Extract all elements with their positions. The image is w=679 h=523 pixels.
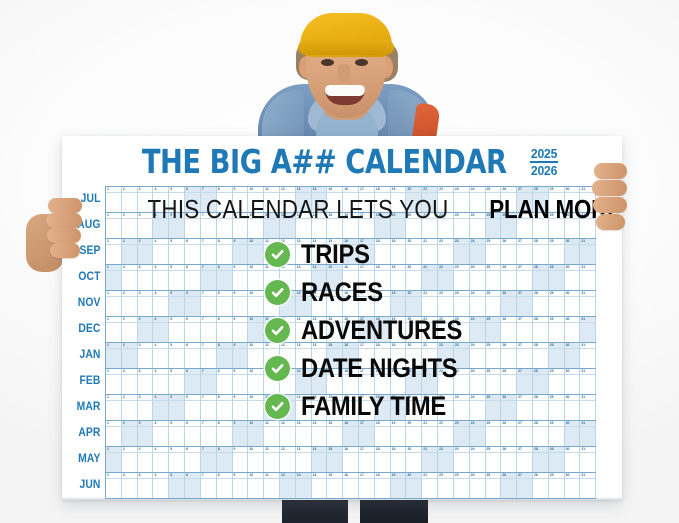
calendar-day-cell[interactable]: 2 — [122, 421, 138, 446]
calendar-day-cell[interactable]: 29 — [549, 473, 565, 498]
calendar-day-cell[interactable]: 1 — [106, 369, 122, 394]
calendar-day-cell[interactable]: 29 — [549, 239, 565, 264]
calendar-day-cell[interactable]: 8 — [217, 213, 233, 238]
calendar-day-cell[interactable]: 18 — [375, 239, 391, 264]
calendar-day-cell[interactable]: 14 — [312, 213, 328, 238]
calendar-day-cell[interactable]: 11 — [264, 473, 280, 498]
calendar-day-cell[interactable]: 19 — [391, 421, 407, 446]
calendar-day-cell[interactable]: 10 — [248, 447, 264, 472]
calendar-day-cell[interactable]: 22 — [438, 343, 454, 368]
calendar-day-cell[interactable]: 29 — [549, 343, 565, 368]
calendar-day-cell[interactable]: 31 — [580, 369, 596, 394]
calendar-day-cell[interactable]: 21 — [422, 395, 438, 420]
calendar-day-cell[interactable]: 6 — [185, 473, 201, 498]
calendar-day-cell[interactable]: 20 — [406, 395, 422, 420]
calendar-day-cell[interactable]: 12 — [280, 343, 296, 368]
calendar-day-cell[interactable]: 7 — [201, 343, 217, 368]
calendar-day-cell[interactable]: 29 — [549, 395, 565, 420]
calendar-day-cell[interactable]: 2 — [122, 395, 138, 420]
calendar-day-cell[interactable]: 8 — [217, 187, 233, 212]
calendar-day-cell[interactable]: 15 — [327, 239, 343, 264]
calendar-day-cell[interactable]: 10 — [248, 343, 264, 368]
calendar-day-cell[interactable]: 13 — [296, 265, 312, 290]
calendar-day-cell[interactable]: 19 — [391, 343, 407, 368]
calendar-day-cell[interactable]: 11 — [264, 421, 280, 446]
calendar-day-cell[interactable]: 7 — [201, 317, 217, 342]
calendar-day-cell[interactable]: 24 — [470, 317, 486, 342]
calendar-day-cell[interactable]: 7 — [201, 265, 217, 290]
calendar-day-cell[interactable]: 28 — [533, 265, 549, 290]
calendar-day-cell[interactable]: 27 — [517, 447, 533, 472]
calendar-day-cell[interactable]: 14 — [312, 473, 328, 498]
calendar-day-cell[interactable]: 29 — [549, 213, 565, 238]
calendar-day-cell[interactable]: 31 — [580, 239, 596, 264]
calendar-day-cell[interactable]: 30 — [565, 187, 581, 212]
calendar-day-cell[interactable]: 29 — [549, 421, 565, 446]
calendar-day-cell[interactable]: 12 — [280, 395, 296, 420]
calendar-day-cell[interactable]: 21 — [422, 187, 438, 212]
calendar-day-cell[interactable]: 23 — [454, 213, 470, 238]
calendar-day-cell[interactable]: 27 — [517, 421, 533, 446]
calendar-day-cell[interactable]: 14 — [312, 395, 328, 420]
calendar-day-cell[interactable]: 26 — [501, 343, 517, 368]
calendar-day-cell[interactable]: 23 — [454, 265, 470, 290]
calendar-day-cell[interactable]: 14 — [312, 187, 328, 212]
calendar-day-cell[interactable]: 12 — [280, 239, 296, 264]
calendar-day-cell[interactable]: 6 — [185, 395, 201, 420]
calendar-day-cell[interactable]: 9 — [233, 343, 249, 368]
calendar-day-cell[interactable]: 20 — [406, 317, 422, 342]
calendar-day-cell[interactable]: 26 — [501, 421, 517, 446]
calendar-day-cell[interactable]: 11 — [264, 395, 280, 420]
calendar-day-cell[interactable]: 21 — [422, 317, 438, 342]
calendar-day-cell[interactable]: 23 — [454, 343, 470, 368]
calendar-day-cell[interactable]: 30 — [565, 343, 581, 368]
calendar-day-cell[interactable]: 25 — [486, 265, 502, 290]
calendar-day-cell[interactable]: 9 — [233, 395, 249, 420]
calendar-day-cell[interactable]: 27 — [517, 187, 533, 212]
calendar-day-cell[interactable]: 8 — [217, 369, 233, 394]
calendar-day-cell[interactable]: 13 — [296, 447, 312, 472]
calendar-poster[interactable]: THE BIG A## CALENDAR 2025 2026 JULAUGSEP… — [62, 136, 622, 500]
calendar-day-cell[interactable]: 18 — [375, 291, 391, 316]
calendar-day-cell[interactable]: 13 — [296, 473, 312, 498]
calendar-day-cell[interactable]: 11 — [264, 447, 280, 472]
calendar-day-cell[interactable]: 3 — [138, 265, 154, 290]
calendar-day-cell[interactable]: 1 — [106, 291, 122, 316]
calendar-day-cell[interactable]: 10 — [248, 395, 264, 420]
calendar-day-cell[interactable]: 31 — [580, 395, 596, 420]
calendar-day-cell[interactable]: 30 — [565, 447, 581, 472]
calendar-day-cell[interactable]: 11 — [264, 213, 280, 238]
calendar-day-cell[interactable]: 2 — [122, 447, 138, 472]
calendar-day-cell[interactable]: 14 — [312, 421, 328, 446]
calendar-day-cell[interactable]: 10 — [248, 239, 264, 264]
calendar-day-cell[interactable]: 14 — [312, 447, 328, 472]
calendar-day-cell[interactable]: 5 — [169, 239, 185, 264]
calendar-day-cell[interactable]: 2 — [122, 317, 138, 342]
calendar-day-cell[interactable]: 16 — [343, 291, 359, 316]
calendar-day-cell[interactable]: 31 — [580, 421, 596, 446]
calendar-day-cell[interactable]: 25 — [486, 421, 502, 446]
calendar-day-cell[interactable]: 13 — [296, 369, 312, 394]
calendar-day-cell[interactable]: 5 — [169, 395, 185, 420]
calendar-day-cell[interactable]: 30 — [565, 369, 581, 394]
calendar-day-cell[interactable]: 3 — [138, 421, 154, 446]
calendar-day-cell[interactable]: 27 — [517, 343, 533, 368]
calendar-day-cell[interactable]: 24 — [470, 343, 486, 368]
calendar-day-cell[interactable]: 15 — [327, 317, 343, 342]
calendar-day-cell[interactable]: 6 — [185, 343, 201, 368]
calendar-day-cell[interactable]: 2 — [122, 369, 138, 394]
calendar-day-cell[interactable]: 20 — [406, 447, 422, 472]
calendar-day-cell[interactable]: 23 — [454, 395, 470, 420]
calendar-day-cell[interactable]: 7 — [201, 291, 217, 316]
calendar-day-cell[interactable]: 8 — [217, 473, 233, 498]
calendar-day-cell[interactable]: 5 — [169, 447, 185, 472]
calendar-day-cell[interactable]: 26 — [501, 187, 517, 212]
calendar-day-cell[interactable]: 26 — [501, 265, 517, 290]
calendar-day-cell[interactable]: 1 — [106, 473, 122, 498]
calendar-day-cell[interactable]: 1 — [106, 239, 122, 264]
calendar-day-cell[interactable]: 2 — [122, 473, 138, 498]
calendar-day-cell[interactable]: 20 — [406, 187, 422, 212]
calendar-day-cell[interactable]: 25 — [486, 369, 502, 394]
calendar-day-cell[interactable]: 7 — [201, 447, 217, 472]
calendar-day-cell[interactable]: 2 — [122, 187, 138, 212]
calendar-day-cell[interactable]: 15 — [327, 265, 343, 290]
calendar-day-cell[interactable]: 22 — [438, 187, 454, 212]
calendar-day-cell[interactable]: 1 — [106, 447, 122, 472]
calendar-day-cell[interactable]: 29 — [549, 291, 565, 316]
calendar-day-cell[interactable]: 1 — [106, 265, 122, 290]
calendar-day-cell[interactable]: 9 — [233, 291, 249, 316]
calendar-day-cell[interactable]: 12 — [280, 447, 296, 472]
calendar-day-cell[interactable]: 28 — [533, 187, 549, 212]
calendar-day-cell[interactable]: 1 — [106, 187, 122, 212]
calendar-day-cell[interactable]: 7 — [201, 213, 217, 238]
calendar-day-cell[interactable]: 20 — [406, 265, 422, 290]
calendar-day-cell[interactable]: 2 — [122, 343, 138, 368]
calendar-day-cell[interactable]: 24 — [470, 447, 486, 472]
calendar-day-cell[interactable]: 2 — [122, 291, 138, 316]
calendar-day-cell[interactable]: 10 — [248, 265, 264, 290]
calendar-day-cell[interactable]: 16 — [343, 265, 359, 290]
calendar-day-cell[interactable]: 22 — [438, 395, 454, 420]
calendar-day-cell[interactable]: 24 — [470, 265, 486, 290]
calendar-day-cell[interactable]: 23 — [454, 317, 470, 342]
calendar-day-cell[interactable]: 12 — [280, 265, 296, 290]
calendar-day-cell[interactable]: 9 — [233, 317, 249, 342]
calendar-day-cell[interactable]: 4 — [153, 421, 169, 446]
calendar-day-cell[interactable]: 8 — [217, 291, 233, 316]
calendar-day-cell[interactable]: 28 — [533, 395, 549, 420]
calendar-day-cell[interactable]: 3 — [138, 343, 154, 368]
calendar-day-cell[interactable]: 18 — [375, 369, 391, 394]
calendar-day-cell[interactable]: 4 — [153, 369, 169, 394]
calendar-day-cell[interactable]: 9 — [233, 473, 249, 498]
calendar-day-cell[interactable]: 10 — [248, 213, 264, 238]
calendar-day-cell[interactable]: 20 — [406, 369, 422, 394]
calendar-day-cell[interactable]: 11 — [264, 291, 280, 316]
calendar-day-cell[interactable]: 7 — [201, 421, 217, 446]
calendar-day-cell[interactable]: 15 — [327, 187, 343, 212]
calendar-day-cell[interactable]: 29 — [549, 265, 565, 290]
calendar-day-cell[interactable]: 30 — [565, 239, 581, 264]
calendar-day-cell[interactable]: 19 — [391, 317, 407, 342]
calendar-day-cell[interactable]: 29 — [549, 447, 565, 472]
calendar-day-cell[interactable]: 14 — [312, 369, 328, 394]
calendar-day-cell[interactable]: 20 — [406, 239, 422, 264]
calendar-day-cell[interactable]: 13 — [296, 213, 312, 238]
calendar-day-cell[interactable]: 23 — [454, 447, 470, 472]
calendar-day-cell[interactable]: 18 — [375, 473, 391, 498]
calendar-day-cell[interactable]: 30 — [565, 265, 581, 290]
calendar-day-cell[interactable]: 10 — [248, 473, 264, 498]
calendar-grid[interactable]: 1234567891011121314151617181920212223242… — [105, 186, 596, 499]
calendar-day-cell[interactable]: 27 — [517, 395, 533, 420]
calendar-day-cell[interactable]: 17 — [359, 473, 375, 498]
calendar-day-cell[interactable]: 3 — [138, 187, 154, 212]
calendar-day-cell[interactable]: 25 — [486, 473, 502, 498]
calendar-day-cell[interactable]: 8 — [217, 395, 233, 420]
calendar-day-cell[interactable]: 27 — [517, 265, 533, 290]
calendar-day-cell[interactable]: 20 — [406, 291, 422, 316]
calendar-day-cell[interactable]: 26 — [501, 369, 517, 394]
calendar-day-cell[interactable]: 13 — [296, 187, 312, 212]
calendar-day-cell[interactable]: 18 — [375, 447, 391, 472]
calendar-day-cell[interactable]: 9 — [233, 447, 249, 472]
calendar-day-cell[interactable]: 20 — [406, 473, 422, 498]
calendar-day-cell[interactable]: 17 — [359, 447, 375, 472]
calendar-day-cell[interactable]: 31 — [580, 265, 596, 290]
calendar-day-cell[interactable]: 17 — [359, 187, 375, 212]
calendar-day-cell[interactable]: 3 — [138, 369, 154, 394]
calendar-day-cell[interactable]: 4 — [153, 343, 169, 368]
calendar-day-cell[interactable]: 9 — [233, 369, 249, 394]
calendar-day-cell[interactable]: 9 — [233, 265, 249, 290]
calendar-day-cell[interactable]: 15 — [327, 343, 343, 368]
calendar-day-cell[interactable]: 14 — [312, 317, 328, 342]
calendar-day-cell[interactable]: 23 — [454, 421, 470, 446]
calendar-day-cell[interactable]: 22 — [438, 291, 454, 316]
calendar-day-cell[interactable]: 5 — [169, 317, 185, 342]
calendar-day-cell[interactable]: 14 — [312, 291, 328, 316]
calendar-day-cell[interactable]: 31 — [580, 291, 596, 316]
calendar-day-cell[interactable]: 8 — [217, 447, 233, 472]
calendar-day-cell[interactable]: 21 — [422, 343, 438, 368]
calendar-day-cell[interactable]: 13 — [296, 395, 312, 420]
calendar-day-cell[interactable]: 9 — [233, 213, 249, 238]
calendar-day-cell[interactable]: 9 — [233, 421, 249, 446]
calendar-day-cell[interactable]: 7 — [201, 187, 217, 212]
calendar-day-cell[interactable]: 16 — [343, 213, 359, 238]
calendar-day-cell[interactable]: 24 — [470, 291, 486, 316]
calendar-day-cell[interactable]: 8 — [217, 265, 233, 290]
calendar-day-cell[interactable]: 6 — [185, 291, 201, 316]
calendar-day-cell[interactable]: 18 — [375, 343, 391, 368]
calendar-day-cell[interactable]: 18 — [375, 213, 391, 238]
calendar-day-cell[interactable]: 17 — [359, 421, 375, 446]
calendar-day-cell[interactable]: 11 — [264, 343, 280, 368]
calendar-day-cell[interactable]: 14 — [312, 343, 328, 368]
calendar-day-cell[interactable]: 25 — [486, 213, 502, 238]
calendar-day-cell[interactable]: 23 — [454, 369, 470, 394]
calendar-day-cell[interactable]: 16 — [343, 317, 359, 342]
calendar-day-cell[interactable]: 22 — [438, 239, 454, 264]
calendar-day-cell[interactable]: 19 — [391, 473, 407, 498]
calendar-day-cell[interactable]: 21 — [422, 213, 438, 238]
calendar-day-cell[interactable]: 5 — [169, 421, 185, 446]
calendar-day-cell[interactable]: 26 — [501, 291, 517, 316]
calendar-day-cell[interactable]: 24 — [470, 187, 486, 212]
calendar-day-cell[interactable]: 12 — [280, 213, 296, 238]
calendar-day-cell[interactable]: 6 — [185, 369, 201, 394]
calendar-day-cell[interactable]: 24 — [470, 213, 486, 238]
calendar-day-cell[interactable]: 16 — [343, 473, 359, 498]
calendar-day-cell[interactable]: 13 — [296, 239, 312, 264]
calendar-day-cell[interactable]: 30 — [565, 317, 581, 342]
calendar-day-cell[interactable]: 12 — [280, 421, 296, 446]
calendar-day-cell[interactable]: 26 — [501, 213, 517, 238]
calendar-day-cell[interactable]: 27 — [517, 369, 533, 394]
calendar-day-cell[interactable]: 17 — [359, 265, 375, 290]
calendar-day-cell[interactable]: 31 — [580, 343, 596, 368]
calendar-day-cell[interactable]: 31 — [580, 317, 596, 342]
calendar-day-cell[interactable]: 30 — [565, 213, 581, 238]
calendar-day-cell[interactable]: 21 — [422, 291, 438, 316]
calendar-day-cell[interactable]: 1 — [106, 421, 122, 446]
calendar-day-cell[interactable]: 25 — [486, 239, 502, 264]
calendar-day-cell[interactable]: 13 — [296, 343, 312, 368]
calendar-day-cell[interactable]: 7 — [201, 473, 217, 498]
calendar-day-cell[interactable]: 16 — [343, 343, 359, 368]
calendar-day-cell[interactable]: 15 — [327, 473, 343, 498]
calendar-day-cell[interactable]: 4 — [153, 395, 169, 420]
calendar-day-cell[interactable]: 23 — [454, 239, 470, 264]
calendar-day-cell[interactable]: 5 — [169, 187, 185, 212]
calendar-day-cell[interactable]: 30 — [565, 395, 581, 420]
calendar-day-cell[interactable]: 25 — [486, 447, 502, 472]
calendar-day-cell[interactable]: 5 — [169, 213, 185, 238]
calendar-day-cell[interactable]: 15 — [327, 421, 343, 446]
calendar-day-cell[interactable]: 25 — [486, 343, 502, 368]
calendar-day-cell[interactable]: 12 — [280, 473, 296, 498]
calendar-day-cell[interactable]: 18 — [375, 187, 391, 212]
calendar-day-cell[interactable]: 6 — [185, 265, 201, 290]
calendar-day-cell[interactable]: 22 — [438, 421, 454, 446]
calendar-day-cell[interactable]: 16 — [343, 421, 359, 446]
calendar-day-cell[interactable]: 12 — [280, 291, 296, 316]
calendar-day-cell[interactable]: 22 — [438, 265, 454, 290]
calendar-day-cell[interactable]: 1 — [106, 395, 122, 420]
calendar-day-cell[interactable]: 21 — [422, 265, 438, 290]
calendar-day-cell[interactable]: 2 — [122, 213, 138, 238]
calendar-day-cell[interactable]: 25 — [486, 317, 502, 342]
calendar-day-cell[interactable]: 30 — [565, 473, 581, 498]
calendar-day-cell[interactable]: 9 — [233, 187, 249, 212]
calendar-day-cell[interactable]: 20 — [406, 213, 422, 238]
calendar-day-cell[interactable]: 28 — [533, 291, 549, 316]
calendar-day-cell[interactable]: 22 — [438, 213, 454, 238]
calendar-day-cell[interactable]: 21 — [422, 239, 438, 264]
calendar-day-cell[interactable]: 27 — [517, 213, 533, 238]
calendar-day-cell[interactable]: 18 — [375, 265, 391, 290]
calendar-day-cell[interactable]: 3 — [138, 291, 154, 316]
calendar-day-cell[interactable]: 15 — [327, 395, 343, 420]
calendar-day-cell[interactable]: 28 — [533, 473, 549, 498]
calendar-day-cell[interactable]: 26 — [501, 473, 517, 498]
calendar-day-cell[interactable]: 17 — [359, 291, 375, 316]
calendar-day-cell[interactable]: 16 — [343, 447, 359, 472]
calendar-day-cell[interactable]: 11 — [264, 265, 280, 290]
calendar-day-cell[interactable]: 3 — [138, 239, 154, 264]
calendar-day-cell[interactable]: 15 — [327, 291, 343, 316]
calendar-day-cell[interactable]: 18 — [375, 395, 391, 420]
calendar-day-cell[interactable]: 25 — [486, 395, 502, 420]
calendar-day-cell[interactable]: 17 — [359, 343, 375, 368]
calendar-day-cell[interactable]: 26 — [501, 239, 517, 264]
calendar-day-cell[interactable]: 19 — [391, 265, 407, 290]
calendar-day-cell[interactable]: 6 — [185, 187, 201, 212]
calendar-day-cell[interactable]: 4 — [153, 291, 169, 316]
calendar-day-cell[interactable]: 7 — [201, 239, 217, 264]
calendar-day-cell[interactable]: 11 — [264, 369, 280, 394]
calendar-day-cell[interactable]: 6 — [185, 239, 201, 264]
calendar-day-cell[interactable]: 3 — [138, 395, 154, 420]
calendar-day-cell[interactable]: 21 — [422, 447, 438, 472]
calendar-day-cell[interactable]: 8 — [217, 343, 233, 368]
calendar-day-cell[interactable]: 10 — [248, 317, 264, 342]
calendar-day-cell[interactable]: 4 — [153, 213, 169, 238]
calendar-day-cell[interactable]: 31 — [580, 447, 596, 472]
calendar-day-cell[interactable]: 24 — [470, 369, 486, 394]
calendar-day-cell[interactable]: 17 — [359, 317, 375, 342]
calendar-day-cell[interactable]: 24 — [470, 421, 486, 446]
calendar-day-cell[interactable]: 6 — [185, 447, 201, 472]
calendar-day-cell[interactable]: 25 — [486, 187, 502, 212]
calendar-day-cell[interactable]: 19 — [391, 239, 407, 264]
calendar-day-cell[interactable]: 6 — [185, 317, 201, 342]
calendar-day-cell[interactable]: 12 — [280, 369, 296, 394]
calendar-day-cell[interactable]: 7 — [201, 369, 217, 394]
calendar-day-cell[interactable]: 5 — [169, 265, 185, 290]
calendar-day-cell[interactable]: 28 — [533, 213, 549, 238]
calendar-day-cell[interactable]: 15 — [327, 213, 343, 238]
calendar-day-cell[interactable]: 27 — [517, 473, 533, 498]
calendar-day-cell[interactable]: 22 — [438, 473, 454, 498]
calendar-day-cell[interactable]: 1 — [106, 213, 122, 238]
calendar-day-cell[interactable]: 31 — [580, 473, 596, 498]
calendar-day-cell[interactable]: 3 — [138, 213, 154, 238]
calendar-day-cell[interactable]: 2 — [122, 239, 138, 264]
calendar-day-cell[interactable]: 26 — [501, 317, 517, 342]
calendar-day-cell[interactable]: 14 — [312, 239, 328, 264]
calendar-day-cell[interactable]: 28 — [533, 317, 549, 342]
calendar-day-cell[interactable]: 11 — [264, 187, 280, 212]
calendar-day-cell[interactable]: 6 — [185, 421, 201, 446]
calendar-day-cell[interactable]: 26 — [501, 447, 517, 472]
calendar-day-cell[interactable]: 27 — [517, 291, 533, 316]
calendar-day-cell[interactable]: 19 — [391, 291, 407, 316]
calendar-day-cell[interactable]: 28 — [533, 369, 549, 394]
calendar-day-cell[interactable]: 11 — [264, 317, 280, 342]
calendar-day-cell[interactable]: 16 — [343, 187, 359, 212]
calendar-day-cell[interactable]: 20 — [406, 421, 422, 446]
calendar-day-cell[interactable]: 19 — [391, 447, 407, 472]
calendar-day-cell[interactable]: 16 — [343, 395, 359, 420]
calendar-day-cell[interactable]: 17 — [359, 369, 375, 394]
